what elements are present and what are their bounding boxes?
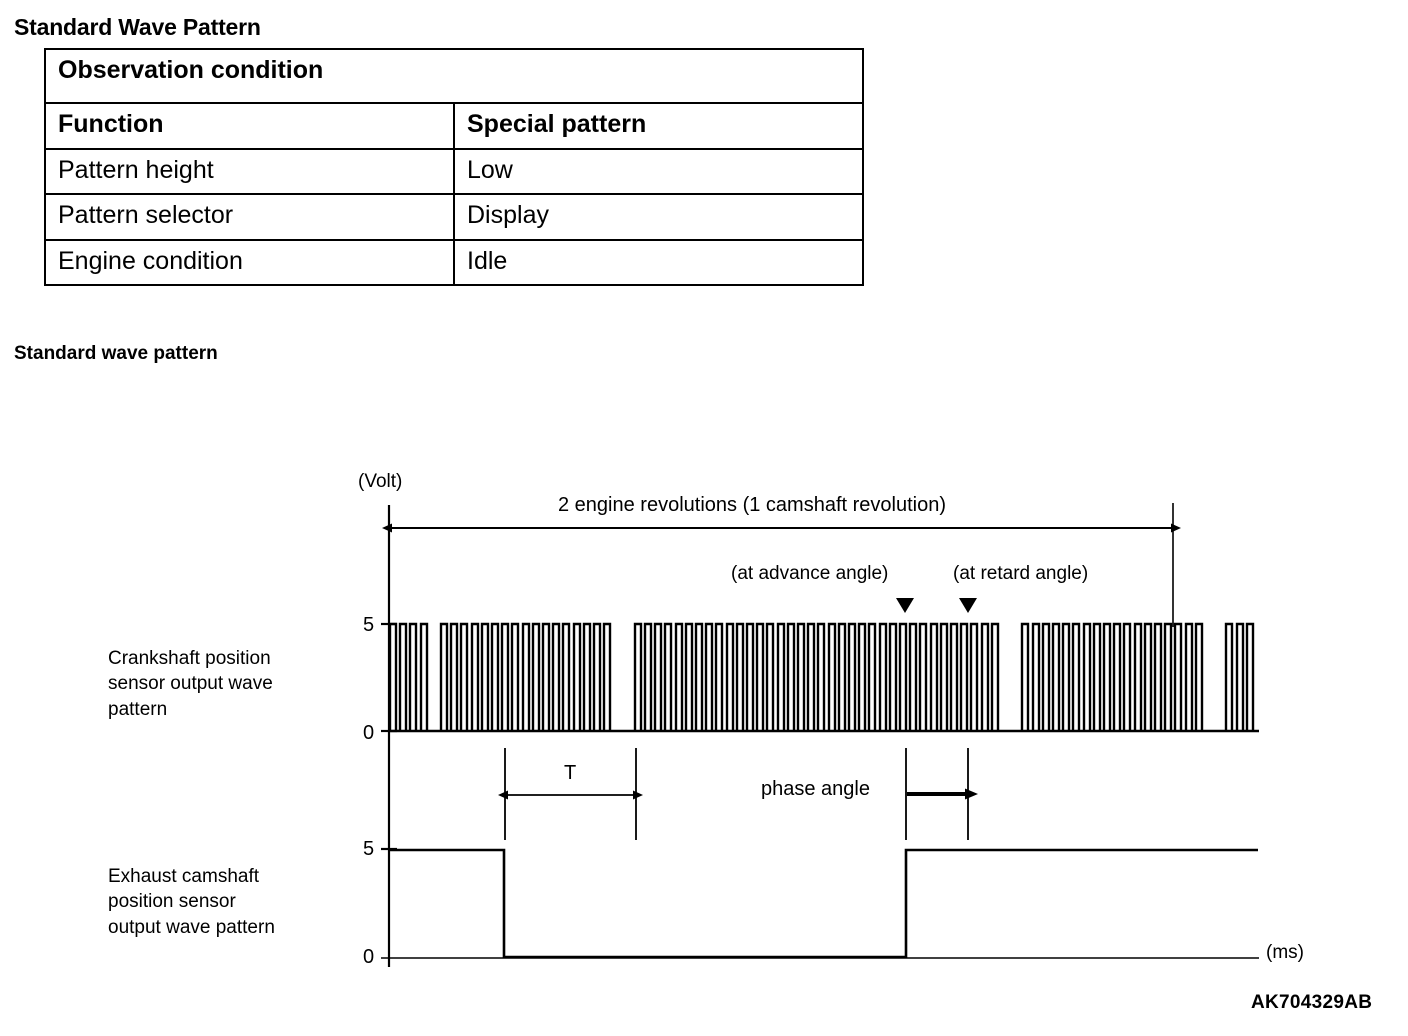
tick-label-cam-high: 5 xyxy=(363,838,374,861)
retard-angle-marker-icon xyxy=(959,598,977,613)
y-axis-unit-label: (Volt) xyxy=(358,471,402,493)
tick-label-cam-low: 0 xyxy=(363,946,374,969)
tick-label-crank-low: 0 xyxy=(363,722,374,745)
annotation-engine-revolutions: 2 engine revolutions (1 camshaft revolut… xyxy=(558,494,946,517)
trace-label-camshaft: Exhaust camshaft position sensor output … xyxy=(108,864,275,940)
tick-label-crank-high: 5 xyxy=(363,614,374,637)
annotation-phase-angle: phase angle xyxy=(761,778,870,801)
annotation-advance-angle: (at advance angle) xyxy=(731,563,888,585)
camshaft-wave-trace xyxy=(389,850,1258,957)
figure-code: AK704329AB xyxy=(1251,992,1372,1014)
advance-angle-marker-icon xyxy=(896,598,914,613)
annotation-period-T: T xyxy=(564,762,576,785)
crankshaft-pulse-train xyxy=(390,624,1253,731)
annotation-retard-angle: (at retard angle) xyxy=(953,563,1088,585)
x-axis-unit-label: (ms) xyxy=(1266,942,1304,964)
trace-label-crankshaft: Crankshaft position sensor output wave p… xyxy=(108,646,273,722)
